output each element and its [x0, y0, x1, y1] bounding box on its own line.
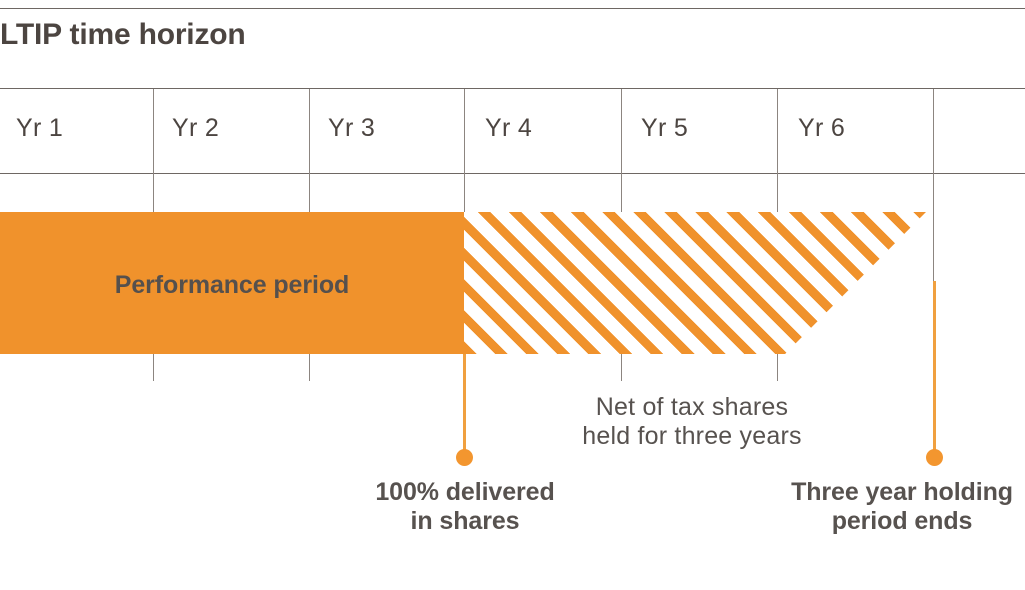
annotation-delivered: 100% delivered in shares	[300, 478, 630, 536]
holding-period-bar	[464, 212, 926, 354]
year-label-4: Yr 4	[485, 114, 532, 143]
leader-dot-delivered	[456, 449, 473, 466]
annotation-net-of-tax-line2: held for three years	[525, 422, 859, 451]
page-title: LTIP time horizon	[0, 18, 246, 52]
hatch-pattern	[464, 212, 926, 354]
annotation-holding-ends-line1: Three year holding	[737, 478, 1025, 507]
year-label-6: Yr 6	[798, 114, 845, 143]
annotation-holding-ends: Three year holding period ends	[737, 478, 1025, 536]
year-label-1: Yr 1	[16, 114, 63, 143]
year-label-2: Yr 2	[172, 114, 219, 143]
annotation-net-of-tax-line1: Net of tax shares	[525, 393, 859, 422]
performance-period-label: Performance period	[0, 271, 464, 300]
leader-line-holding-ends	[933, 281, 936, 455]
annotation-delivered-line2: in shares	[300, 507, 630, 536]
leader-dot-holding-ends	[926, 449, 943, 466]
annotation-holding-ends-line2: period ends	[737, 507, 1025, 536]
year-label-3: Yr 3	[328, 114, 375, 143]
year-label-5: Yr 5	[641, 114, 688, 143]
ltip-timeline-infographic: LTIP time horizon Yr 1 Yr 2 Yr 3 Yr 4 Yr…	[0, 0, 1025, 590]
annotation-net-of-tax: Net of tax shares held for three years	[525, 393, 859, 451]
leader-line-delivered	[463, 354, 466, 455]
top-divider	[0, 8, 1025, 9]
annotation-delivered-line1: 100% delivered	[300, 478, 630, 507]
